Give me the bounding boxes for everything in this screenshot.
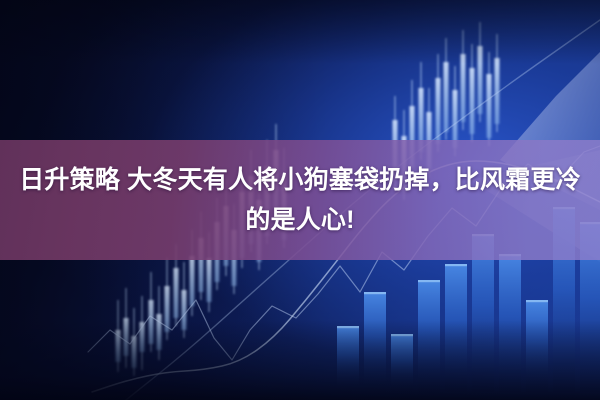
headline-line-1: 日升策略 大冬天有人将小狗塞袋扔掉，比风霜更冷	[19, 161, 581, 199]
bar-cap	[364, 292, 386, 294]
bar-cap	[391, 334, 413, 336]
banner-image: 日升策略 大冬天有人将小狗塞袋扔掉，比风霜更冷 的是人心!	[0, 0, 600, 400]
bar-cap	[418, 280, 440, 282]
bar-cap	[526, 300, 548, 302]
bar	[526, 300, 548, 392]
candle-body	[173, 268, 178, 318]
bar-cap	[337, 326, 359, 328]
candle-body	[443, 62, 448, 132]
headline-line-2: 的是人心!	[245, 201, 354, 239]
bar	[445, 264, 467, 392]
candle-body	[460, 54, 465, 122]
bar	[499, 254, 521, 392]
headline-text-block: 日升策略 大冬天有人将小狗塞袋扔掉，比风霜更冷 的是人心!	[0, 140, 600, 260]
candle-body	[189, 256, 194, 306]
bar	[391, 334, 413, 392]
bar	[418, 280, 440, 392]
candle-body	[469, 68, 474, 134]
candle-body	[206, 258, 211, 302]
candle-body	[435, 78, 440, 144]
candle-body	[486, 74, 491, 138]
bar-cap	[445, 264, 467, 266]
candle-body	[148, 300, 153, 344]
candle-body	[156, 314, 161, 350]
bar	[364, 292, 386, 392]
candle-body	[123, 318, 128, 356]
bar	[337, 326, 359, 392]
candle-body	[181, 290, 186, 330]
